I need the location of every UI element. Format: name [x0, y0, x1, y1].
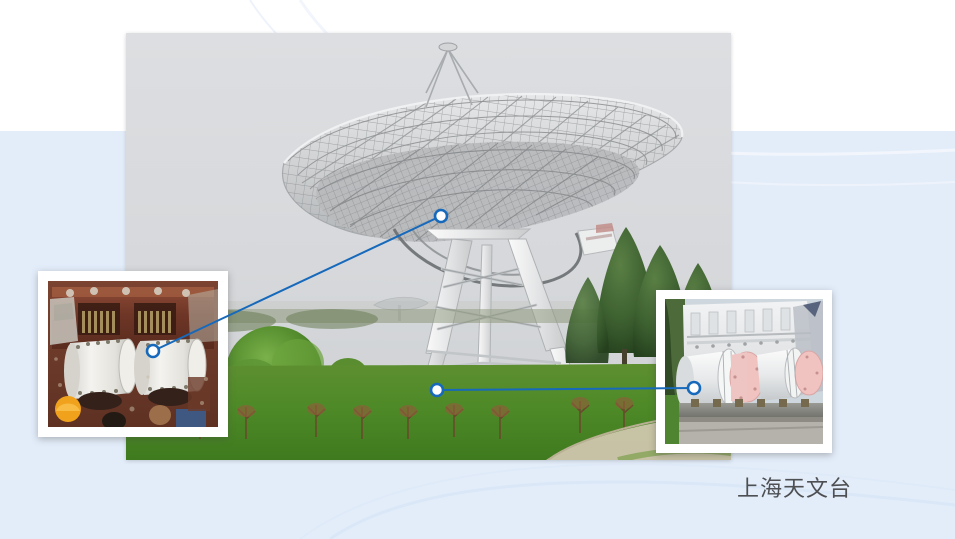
inset-left-gearbox-photo	[38, 271, 228, 437]
worker-head-right	[149, 405, 171, 425]
inset-left-illustration	[48, 281, 218, 427]
worker-clothing	[176, 409, 206, 427]
slide-canvas: 上海天文台	[0, 0, 955, 539]
inset-right-gearbox-photo	[656, 290, 832, 453]
page-caption: 上海天文台	[737, 471, 852, 503]
drive-unit-rear	[757, 348, 823, 401]
inset-right-illustration	[665, 299, 823, 444]
inset-right-image	[665, 299, 823, 444]
inset-left-image	[48, 281, 218, 427]
orange-hard-hat	[55, 396, 81, 422]
